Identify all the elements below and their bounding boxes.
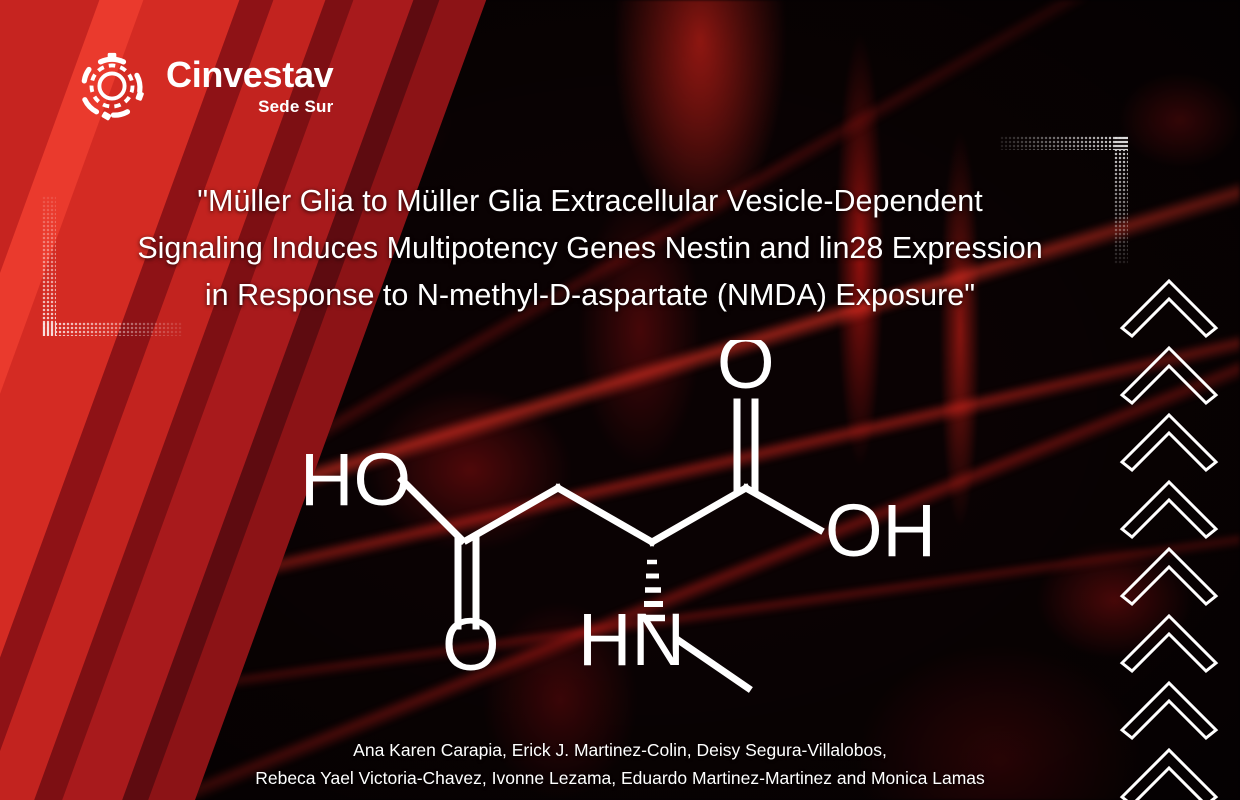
- label-amine: HN: [578, 598, 685, 681]
- chevron-up-icon: [1116, 674, 1222, 740]
- nmda-structural-formula: HO O O OH HN: [280, 340, 970, 720]
- title-line-1: "Müller Glia to Müller Glia Extracellula…: [60, 178, 1120, 225]
- chevron-up-icon: [1116, 339, 1222, 405]
- label-hydroxyl-right: OH: [825, 489, 936, 572]
- presentation-slide: Cinvestav Sede Sur "Müller Glia to Mülle…: [0, 0, 1240, 800]
- chevron-up-icon: [1116, 473, 1222, 539]
- label-hydroxyl-left: HO: [300, 438, 411, 521]
- slide-title: "Müller Glia to Müller Glia Extracellula…: [60, 178, 1120, 319]
- author-line-1: Ana Karen Carapia, Erick J. Martinez-Col…: [70, 736, 1170, 764]
- logo-wordmark: Cinvestav Sede Sur: [166, 57, 333, 115]
- author-list: Ana Karen Carapia, Erick J. Martinez-Col…: [70, 736, 1170, 792]
- label-carbonyl-left: O: [442, 603, 500, 686]
- title-line-2: Signaling Induces Multipotency Genes Nes…: [60, 225, 1120, 272]
- chevron-up-icon: [1116, 540, 1222, 606]
- author-line-2: Rebeca Yael Victoria-Chavez, Ivonne Leza…: [70, 764, 1170, 792]
- chevron-up-icon: [1116, 272, 1222, 338]
- chevron-stack: [1116, 272, 1222, 800]
- halftone-bracket-bottom-left-horizontal: [42, 322, 182, 336]
- logo-campus: Sede Sur: [258, 98, 333, 115]
- halftone-bracket-top-right-horizontal: [1000, 136, 1128, 150]
- chevron-up-icon: [1116, 607, 1222, 673]
- logo-name: Cinvestav: [166, 57, 333, 93]
- label-carbonyl-right: O: [717, 340, 775, 404]
- title-line-3: in Response to N-methyl-D-aspartate (NMD…: [60, 272, 1120, 319]
- cinvestav-logo: Cinvestav Sede Sur: [76, 50, 333, 122]
- cinvestav-circular-emblem-icon: [76, 50, 148, 122]
- halftone-bracket-bottom-left-vertical: [42, 196, 56, 336]
- chevron-up-icon: [1116, 406, 1222, 472]
